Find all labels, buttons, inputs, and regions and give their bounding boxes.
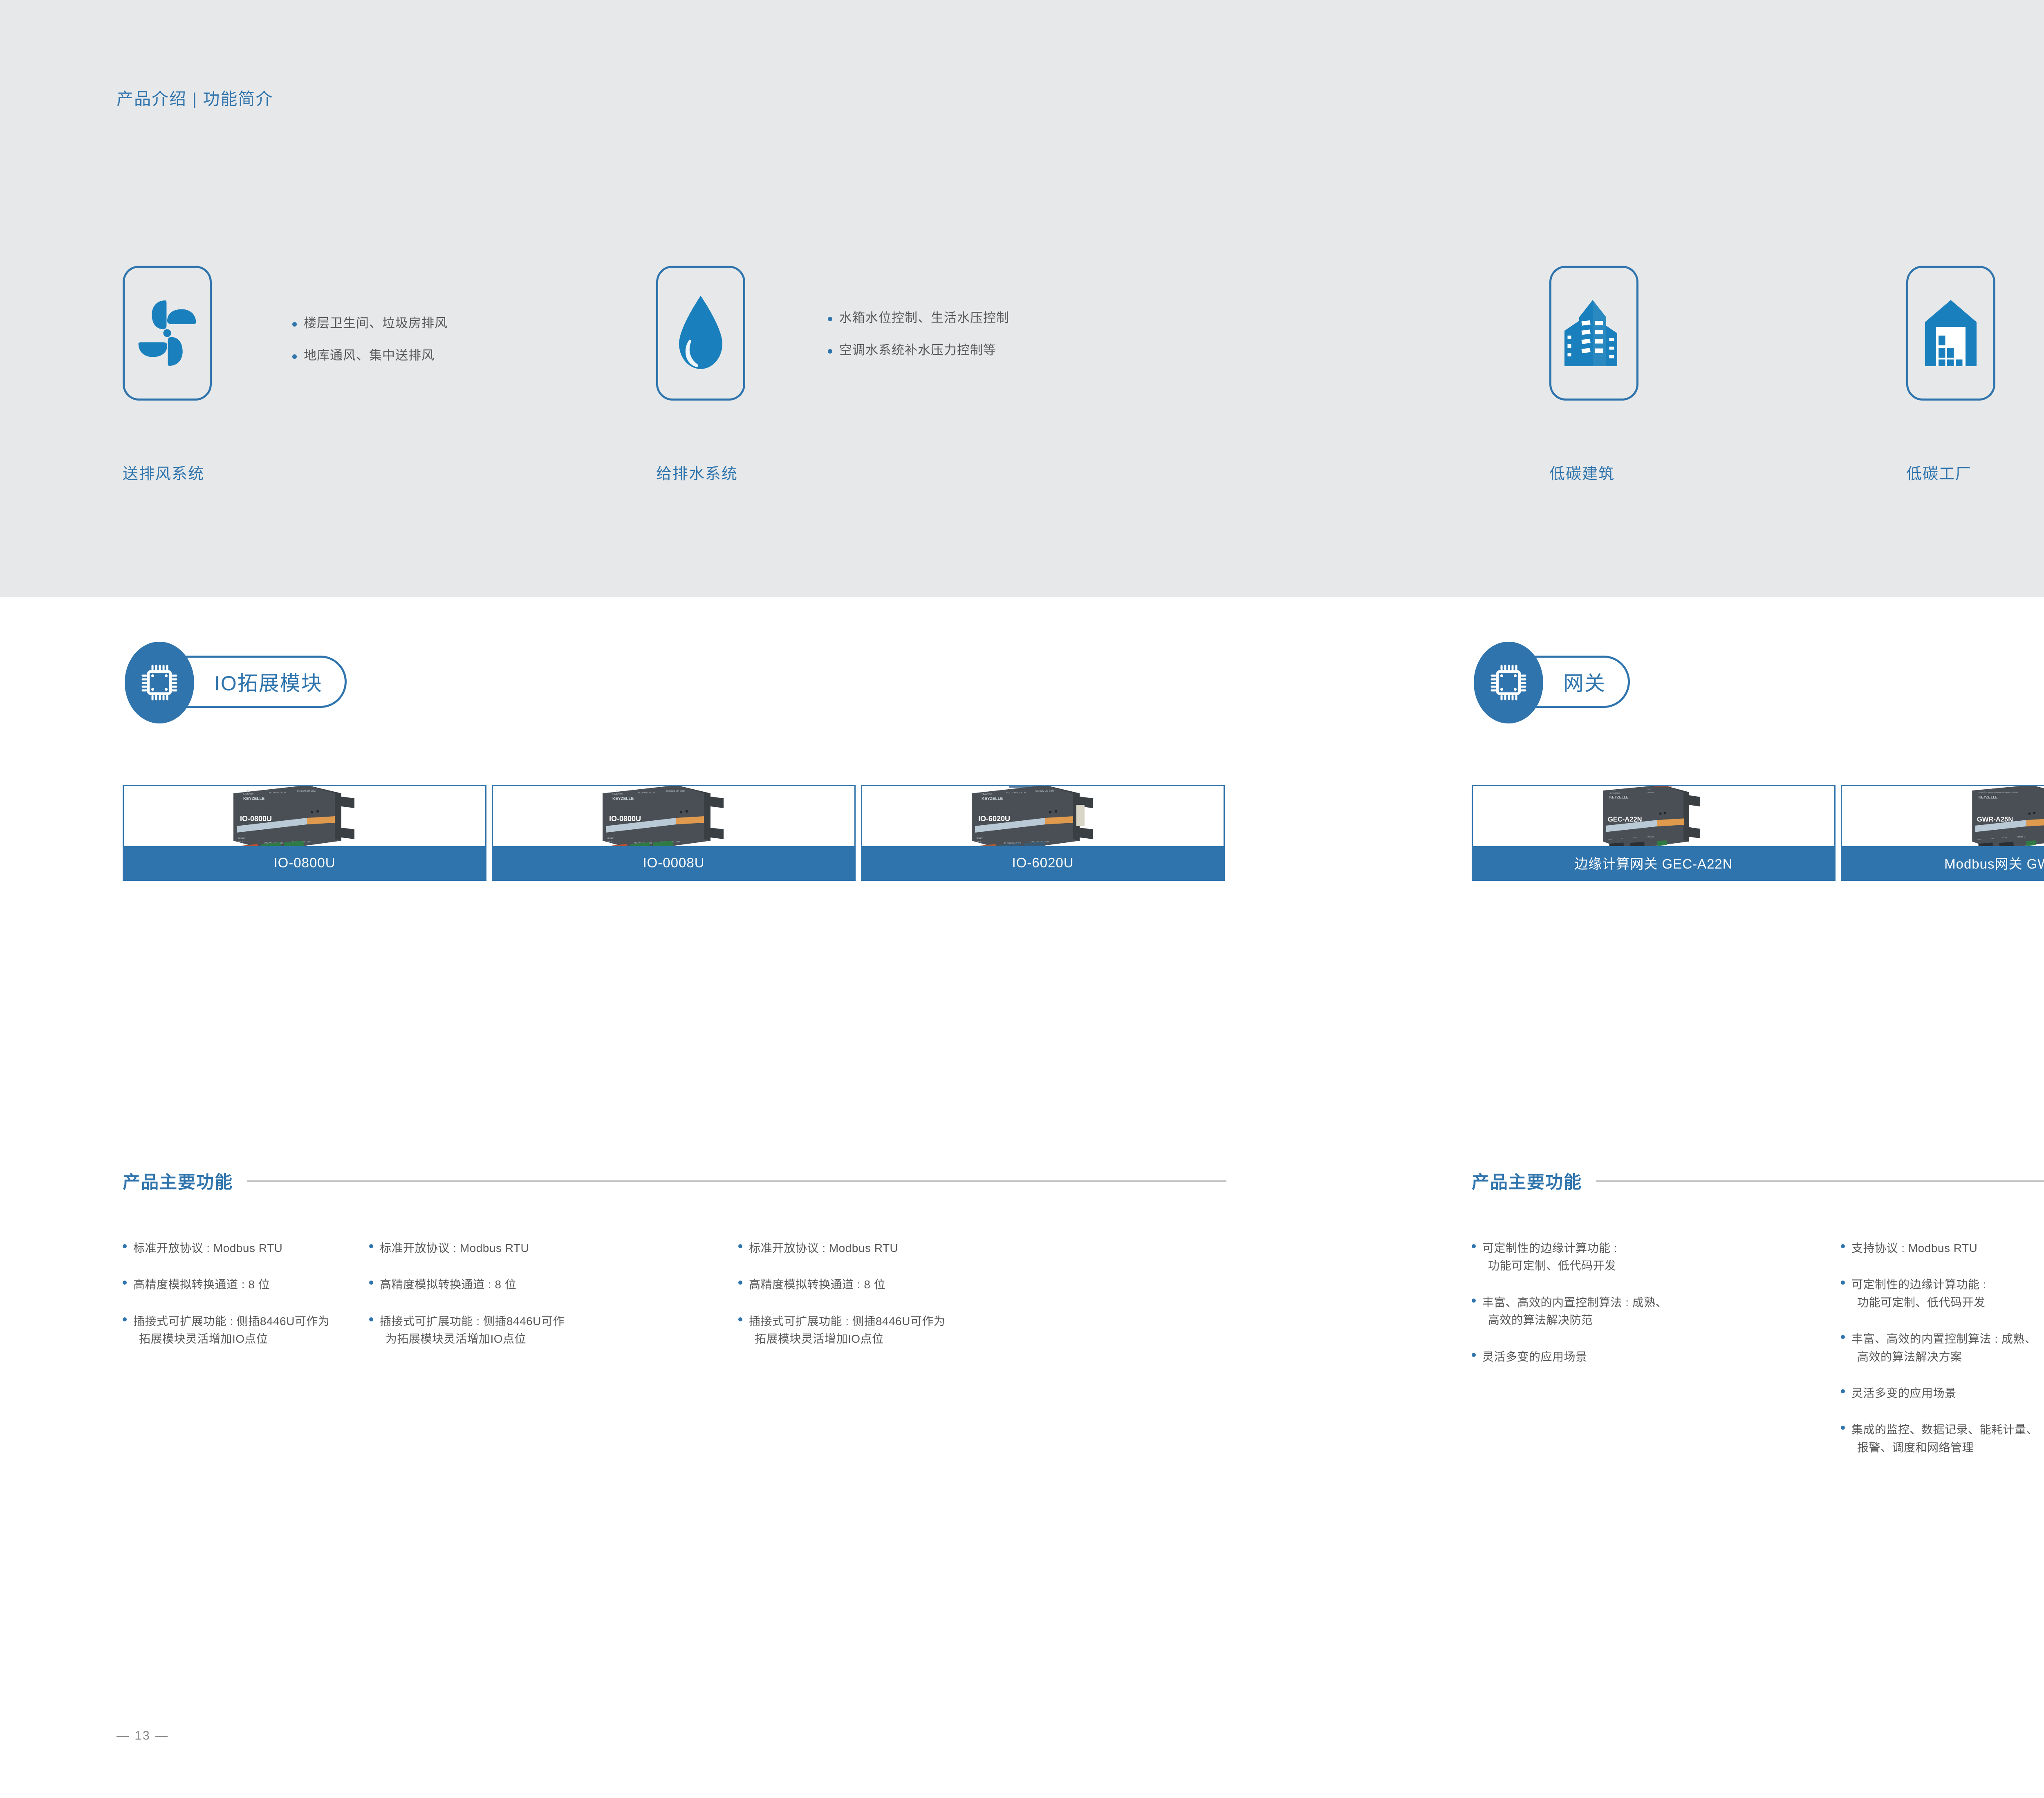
feature-column-1: 标准开放协议 : Modbus RTU 高精度模拟转换通道 : 8 位 插接式可… (123, 1239, 352, 1367)
bullet-dot (123, 1244, 127, 1248)
app-card-fan (123, 266, 212, 401)
svg-text:+ - NA: + - NA (612, 790, 619, 793)
svg-text:RS485: RS485 (1647, 791, 1654, 794)
svg-text:+ - NA: + - NA (1610, 789, 1616, 791)
bullet-dot (1841, 1389, 1845, 1393)
feature-text: 丰富、高效的内置控制算法 : 成熟、高效的算法解决防范 (1482, 1294, 1667, 1329)
svg-text:UI1 COM UI2 COM: UI1 COM UI2 COM (1035, 790, 1054, 793)
badge-label: 网关 (1563, 667, 1606, 696)
bullet-dot (369, 1244, 373, 1248)
bullet-dot (828, 317, 832, 321)
feature-text: 可定制性的边缘计算功能 :功能可定制、低代码开发 (1482, 1239, 1617, 1275)
factory-icon (1920, 296, 1981, 370)
scenario-card-building (1549, 266, 1638, 401)
app-bullets-fan: 楼层卫生间、垃圾房排风 地库通风、集中送排风 (292, 317, 448, 362)
svg-text:IO-0800U: IO-0800U (240, 815, 272, 823)
chip-icon (125, 642, 194, 723)
bullet-dot (1841, 1281, 1845, 1285)
product-card-gwr-a25n[interactable]: GWR-A25N KEYZELLE + - NA + - + - + - + -… (1841, 785, 2044, 881)
svg-text:LAN1: LAN1 (1977, 838, 1982, 840)
svg-text:KEYZELLE: KEYZELLE (1979, 795, 1998, 799)
bullet-dot (1472, 1299, 1476, 1303)
svg-text:DI1 COM DI2 COM: DI1 COM DI2 COM (268, 792, 286, 794)
bullet-dot (1472, 1353, 1476, 1357)
scenario-card-factory (1906, 266, 1995, 401)
badge-label: IO拓展模块 (214, 667, 323, 696)
office-building-icon (1563, 296, 1625, 370)
svg-text:24VAC/DC: 24VAC/DC (612, 793, 623, 796)
app-bullet-text: 楼层卫生间、垃圾房排风 (304, 317, 448, 329)
svg-text:NA + -: NA + - (607, 841, 614, 843)
svg-text:SD: SD (1621, 837, 1624, 840)
feature-text: 集成的监控、数据记录、能耗计量、报警、调度和网络管理 (1851, 1421, 2038, 1456)
feature-text: 插接式可扩展功能 : 侧插8446U可作为拓展模块灵活增加IO点位 (749, 1312, 945, 1348)
gateway-feature-column-2: 支持协议 : Modbus RTU 可定制性的边缘计算功能 :功能可定制、低代码… (1841, 1239, 2044, 1475)
svg-text:USB: USB (1608, 838, 1612, 841)
svg-text:IO-6020U: IO-6020U (978, 815, 1010, 823)
product-image: IO-0800U KEYZELLE + - NA24VAC/DC DI1 COM… (124, 786, 485, 846)
svg-text:NA + -: NA + - (1647, 788, 1653, 790)
bullet-dot (1841, 1244, 1845, 1248)
gateway-feature-column-1: 可定制性的边缘计算功能 :功能可定制、低代码开发 丰富、高效的内置控制算法 : … (1472, 1239, 1701, 1384)
svg-text:DI3 COM DI4 COM: DI3 COM DI4 COM (666, 790, 685, 793)
bullet-dot (738, 1281, 742, 1285)
feature-text: 插接式可扩展功能 : 侧插8446U可作为拓展模块灵活增加IO点位 (133, 1312, 329, 1348)
fan-icon (134, 296, 200, 370)
product-label: IO-6020U (862, 846, 1224, 880)
scenario-caption-factory: 低碳工厂 (1906, 461, 1972, 484)
feature-column-2: 标准开放协议 : Modbus RTU 高精度模拟转换通道 : 8 位 插接式可… (369, 1239, 598, 1367)
bullet-dot (1472, 1244, 1476, 1248)
bullet-dot (1841, 1335, 1845, 1339)
app-bullet-text: 地库通风、集中送排风 (304, 349, 435, 362)
svg-text:KEYZELLE: KEYZELLE (612, 797, 634, 801)
feature-text: 标准开放协议 : Modbus RTU (133, 1239, 282, 1257)
svg-text:24VAC/DC: 24VAC/DC (243, 793, 253, 796)
section-rule (1596, 1180, 2044, 1182)
app-bullet-text: 水箱水位控制、生活水压控制 (839, 311, 1009, 324)
svg-text:RS485: RS485 (238, 837, 245, 840)
svg-text:DI1 COM DI2 COM: DI1 COM DI2 COM (637, 792, 655, 794)
feature-text: 高精度模拟转换通道 : 8 位 (380, 1276, 516, 1293)
product-image: GEC-A22N KEYZELLE + - NA24VAC/DC NA + -R… (1473, 786, 1834, 846)
top-gray-band (0, 0, 2044, 597)
bullet-dot (292, 322, 297, 327)
svg-text:RS485: RS485 (977, 837, 983, 840)
scenario-caption-building: 低碳建筑 (1549, 461, 1615, 484)
svg-text:LAN2: LAN2 (2002, 837, 2007, 839)
feature-text: 标准开放协议 : Modbus RTU (749, 1239, 898, 1257)
product-image: GWR-A25N KEYZELLE + - NA + - + - + - + -… (1842, 786, 2044, 846)
svg-text:NA + -: NA + - (238, 841, 244, 843)
section-rule (247, 1180, 1226, 1182)
product-label: IO-0008U (493, 846, 854, 880)
svg-text:GEC-A22N: GEC-A22N (1608, 815, 1642, 823)
page-number-left: — 13 — (117, 1729, 169, 1743)
product-label: IO-0800U (124, 846, 485, 880)
left-page: IO拓展模块 (0, 597, 1316, 1798)
product-card-io-0800u[interactable]: IO-0800U KEYZELLE + - NA24VAC/DC DI1 COM… (123, 785, 486, 881)
product-image: IO-0800U KEYZELLE + - NA24VAC/DC DI1 COM… (493, 786, 854, 846)
bullet-dot (123, 1281, 127, 1285)
product-card-io-0008u[interactable]: IO-0800U KEYZELLE + - NA24VAC/DC DI1 COM… (492, 785, 856, 881)
svg-text:24VAC/DC: 24VAC/DC (982, 793, 992, 796)
feature-text: 支持协议 : Modbus RTU (1851, 1239, 1977, 1257)
device-gateway-icon: GEC-A22N KEYZELLE + - NA24VAC/DC NA + -R… (1566, 785, 1741, 856)
product-label: 边缘计算网关 GEC-A22N (1473, 846, 1834, 880)
feature-column-3: 标准开放协议 : Modbus RTU 高精度模拟转换通道 : 8 位 插接式可… (738, 1239, 967, 1367)
feature-text: 灵活多变的应用场景 (1851, 1384, 1957, 1402)
bullet-dot (369, 1281, 373, 1285)
feature-text: 高精度模拟转换通道 : 8 位 (749, 1276, 885, 1293)
feature-text: 插接式可扩展功能 : 侧插8446U可作为拓展模块灵活增加IO点位 (380, 1312, 565, 1348)
section-title-text: 产品主要功能 (1472, 1168, 1582, 1193)
device-gateway-icon: GWR-A25N KEYZELLE + - NA + - + - + - + -… (1935, 785, 2044, 856)
product-card-gec-a22n[interactable]: GEC-A22N KEYZELLE + - NA24VAC/DC NA + -R… (1472, 785, 1836, 881)
bullet-dot (123, 1317, 127, 1321)
svg-text:GWR-A25N: GWR-A25N (1977, 815, 2013, 823)
svg-text:+ - NA + - + - + - + -: + - NA + - + - + - + - (1980, 788, 1996, 790)
app-caption-fan: 送排风系统 (123, 461, 204, 484)
svg-text:AO1 COM AO2 COM: AO1 COM AO2 COM (1006, 792, 1026, 794)
feature-text: 标准开放协议 : Modbus RTU (380, 1239, 529, 1257)
feature-text: 灵活多变的应用场景 (1482, 1348, 1587, 1366)
feature-text: 丰富、高效的内置控制算法 : 成熟、高效的算法解决方案 (1851, 1330, 2036, 1366)
section-title-left: 产品主要功能 (123, 1168, 1226, 1193)
svg-text:KEYZELLE: KEYZELLE (243, 797, 265, 801)
bullet-dot (828, 349, 832, 354)
svg-text:RS485: RS485 (1647, 836, 1654, 838)
header-title-left: 产品介绍 | 功能简介 (117, 85, 273, 110)
svg-text:RS485-1: RS485-1 (2017, 836, 2025, 838)
bullet-dot (292, 354, 297, 359)
svg-text:+ - NA: + - NA (982, 790, 988, 793)
svg-text:LAN: LAN (1633, 837, 1637, 839)
svg-text:24VAC/DC: 24VAC/DC (1610, 792, 1620, 795)
water-drop-icon (674, 294, 727, 372)
app-bullet-text: 空调水系统补水压力控制等 (839, 344, 996, 356)
product-image: IO-6020U KEYZELLE + - NA24VAC/DC AO1 COM… (862, 786, 1224, 846)
bullet-dot (738, 1317, 742, 1321)
bullet-dot (369, 1317, 373, 1321)
right-page: 网关 (1316, 597, 2044, 1798)
app-caption-water: 给排水系统 (656, 461, 738, 484)
svg-text:KEYZELLE: KEYZELLE (982, 797, 1003, 801)
svg-text:24VAC/DC RS485-2 RS485-3 RS485: 24VAC/DC RS485-2 RS485-3 RS485-4 RS485-5 (1979, 791, 2019, 793)
svg-text:IO-0800U: IO-0800U (609, 815, 641, 823)
svg-text:+ - NA: + - NA (243, 790, 249, 793)
product-card-io-6020u[interactable]: IO-6020U KEYZELLE + - NA24VAC/DC AO1 COM… (861, 785, 1225, 881)
svg-text:SD: SD (1991, 837, 1994, 840)
section-title-right: 产品主要功能 (1472, 1168, 2044, 1193)
feature-text: 可定制性的边缘计算功能 :功能可定制、低代码开发 (1851, 1276, 1986, 1311)
app-bullets-water: 水箱水位控制、生活水压控制 空调水系统补水压力控制等 (828, 311, 1009, 356)
svg-text:NA + -: NA + - (977, 841, 983, 843)
app-card-water (656, 266, 745, 401)
bullet-dot (1841, 1426, 1845, 1430)
chip-icon (1474, 642, 1543, 723)
svg-text:RS485: RS485 (607, 837, 614, 840)
svg-text:KEYZELLE: KEYZELLE (1609, 795, 1629, 799)
product-label: Modbus网关 GWR-A25N (1842, 846, 2044, 880)
svg-text:DI3 COM DI4 COM: DI3 COM DI4 COM (297, 790, 316, 793)
bullet-dot (738, 1244, 742, 1248)
feature-text: 高精度模拟转换通道 : 8 位 (133, 1276, 270, 1293)
section-title-text: 产品主要功能 (123, 1168, 233, 1193)
